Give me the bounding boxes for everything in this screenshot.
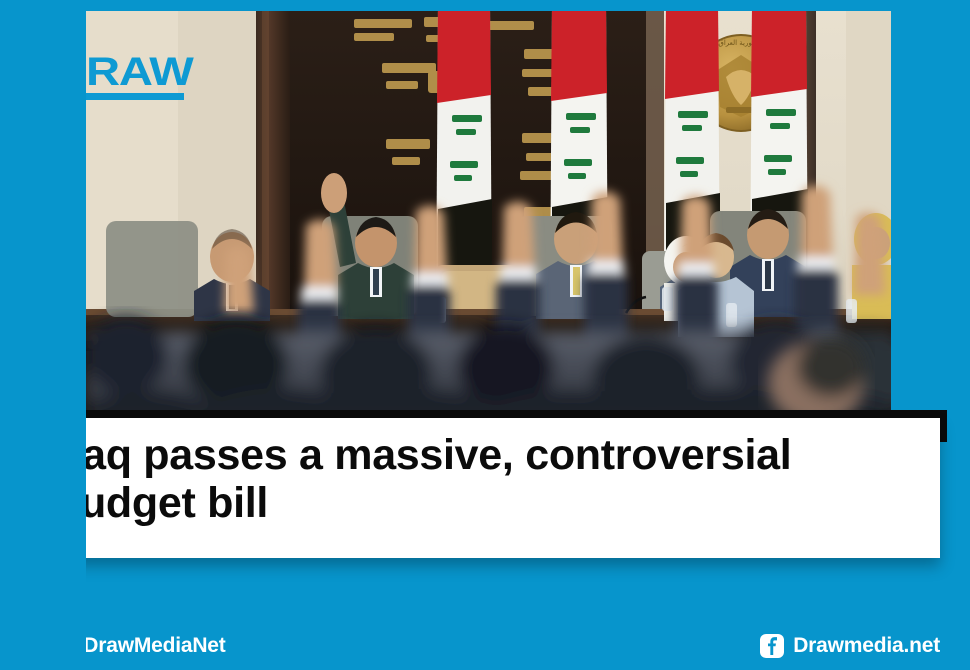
twitter-handle-group[interactable]: @DrawMediaNet: [30, 634, 226, 658]
headline-card: Iraq passes a massive, controversial bud…: [35, 418, 940, 558]
facebook-site-label[interactable]: Drawmedia.net: [793, 634, 940, 658]
parliament-chamber-photo: جمهورية العراق: [86, 11, 891, 413]
twitter-bird-icon[interactable]: [30, 634, 54, 658]
headline-title: Iraq passes a massive, controversial bud…: [35, 431, 940, 527]
footer-bar: @DrawMediaNet Drawmedia.net: [0, 600, 970, 670]
news-photo: جمهورية العراق: [86, 11, 891, 413]
facebook-f-icon[interactable]: [760, 634, 784, 658]
twitter-handle-label[interactable]: @DrawMediaNet: [63, 634, 226, 658]
facebook-site-group[interactable]: Drawmedia.net: [760, 634, 940, 658]
logo-blue-band: [0, 0, 86, 670]
